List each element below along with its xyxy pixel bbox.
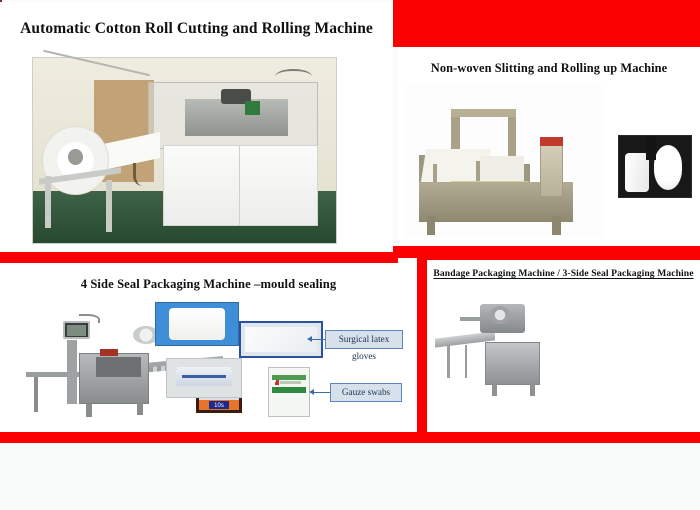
callout-leader-gloves bbox=[311, 339, 326, 340]
panel-bottom-right: Bandage Packaging Machine / 3-Side Seal … bbox=[427, 260, 700, 432]
callout-label-gauze-swabs: Gauze swabs bbox=[330, 383, 402, 402]
gauze-swabs-pack bbox=[268, 367, 310, 417]
red-bar-bottom bbox=[0, 432, 700, 443]
panel-title-cotton-roll: Automatic Cotton Roll Cutting and Rollin… bbox=[0, 20, 393, 38]
gray-sachet-product bbox=[166, 358, 242, 398]
callout-leader-gauze bbox=[313, 392, 331, 393]
blue-bag-size-label: 10s bbox=[209, 401, 228, 410]
bandage-packaging-machine-photo bbox=[432, 288, 557, 401]
red-accent-block-top-right bbox=[393, 0, 700, 47]
panel-title-four-side-seal: 4 Side Seal Packaging Machine –mould sea… bbox=[0, 277, 417, 292]
slide-canvas: Automatic Cotton Roll Cutting and Rollin… bbox=[0, 0, 700, 510]
red-bar-middle-left bbox=[0, 252, 398, 263]
panel-title-non-woven-slitting: Non-woven Slitting and Rolling up Machin… bbox=[398, 61, 700, 76]
panel-top-left: Automatic Cotton Roll Cutting and Rollin… bbox=[0, 2, 393, 252]
blue-sachet-product bbox=[155, 302, 239, 346]
cotton-roll-cutting-machine-photo bbox=[32, 57, 337, 244]
panel-top-right: Non-woven Slitting and Rolling up Machin… bbox=[398, 47, 700, 252]
panel-title-bandage-packaging: Bandage Packaging Machine / 3-Side Seal … bbox=[427, 268, 700, 279]
non-woven-slitting-machine-photo bbox=[403, 85, 605, 237]
non-woven-rolls-photo bbox=[618, 135, 692, 198]
callout-label-surgical-latex-gloves: Surgical latex gloves bbox=[325, 330, 403, 349]
